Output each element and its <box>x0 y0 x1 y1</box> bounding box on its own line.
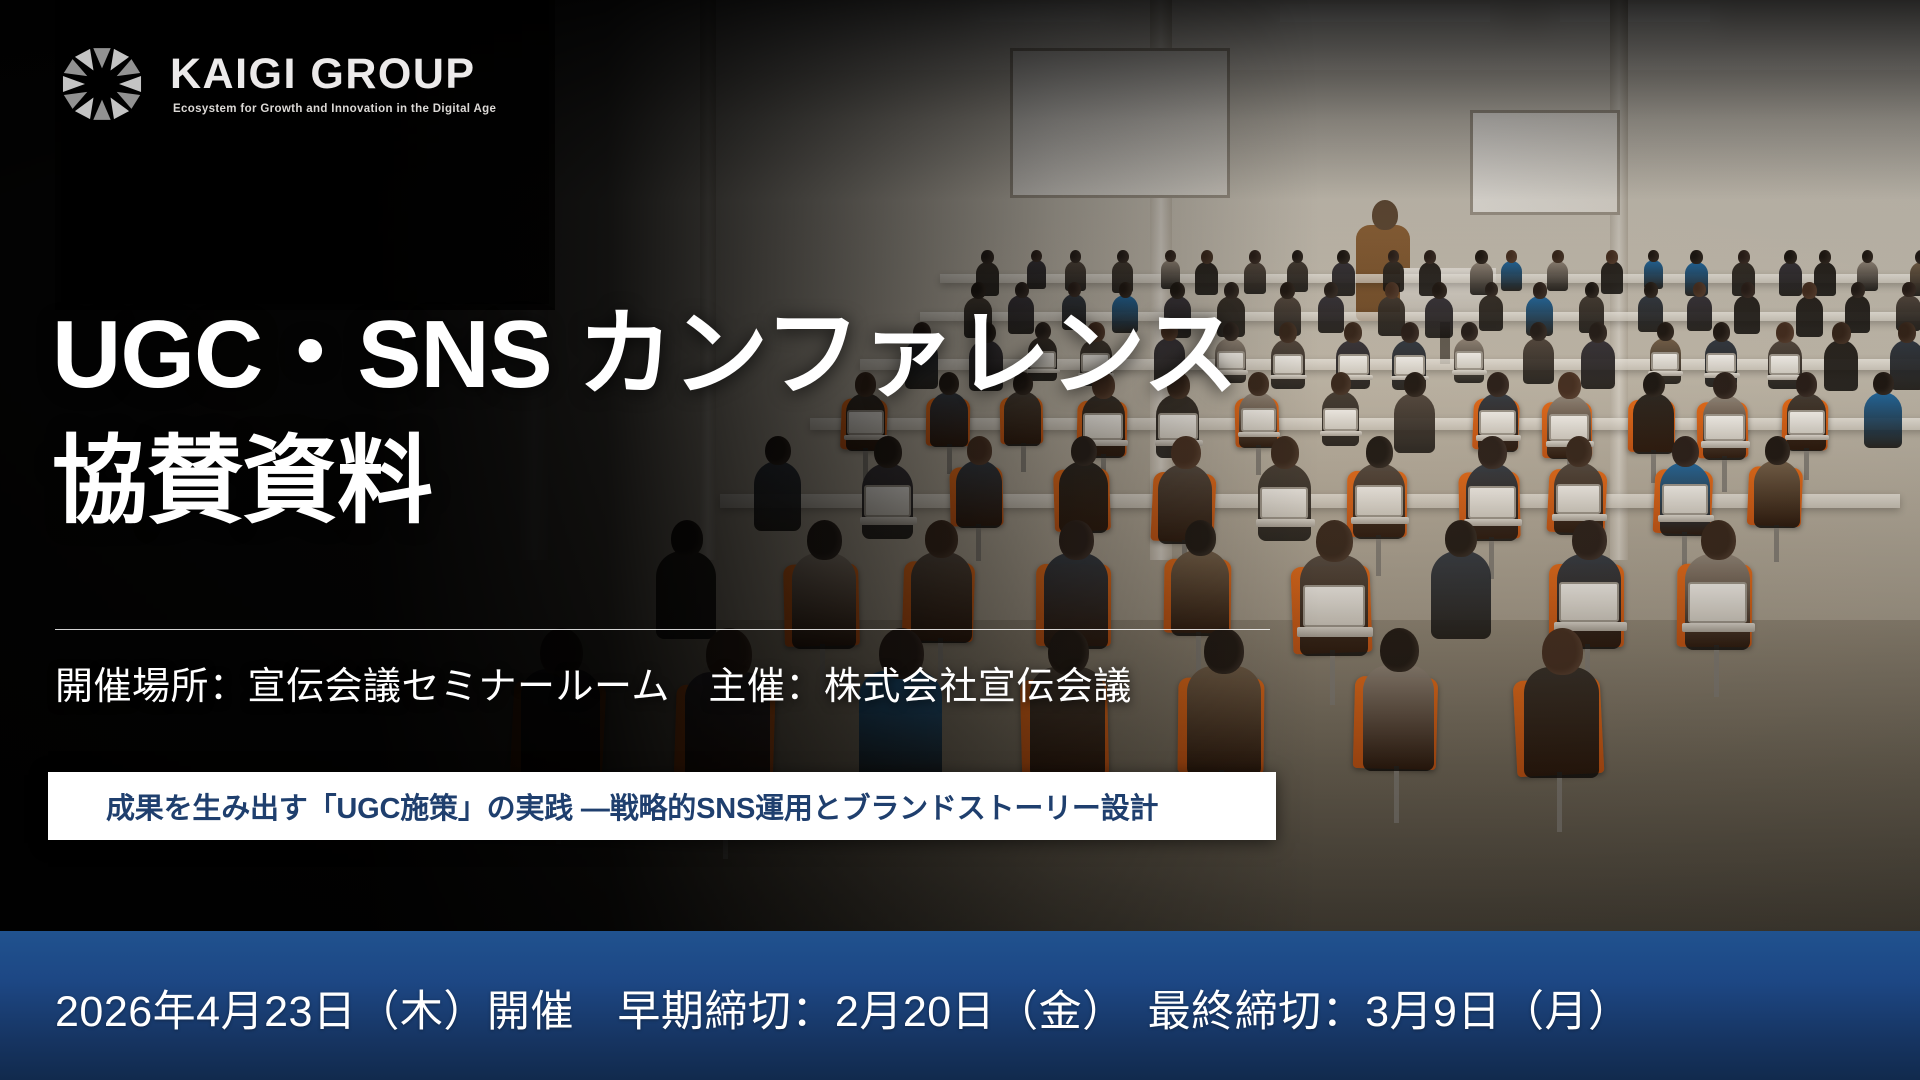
footer-bar: 2026年4月23日（木）開催 早期締切：2月20日（金） 最終締切：3月9日（… <box>0 931 1920 1080</box>
page-title: UGC・SNS カンファレンス 協賛資料 <box>52 292 1238 545</box>
subtitle-banner-text: 成果を生み出す「UGC施策」の実践 ―戦略的SNS運用とブランドストーリー設計 <box>106 785 1158 827</box>
footer-dates-text: 2026年4月23日（木）開催 早期締切：2月20日（金） 最終締切：3月9日（… <box>55 977 1631 1039</box>
brand-tagline: Ecosystem for Growth and Innovation in t… <box>173 103 496 115</box>
sunburst-pinwheel-icon <box>48 36 156 132</box>
presentation-slide: KAIGI GROUP Ecosystem for Growth and Inn… <box>0 0 1920 1080</box>
subtitle-banner: 成果を生み出す「UGC施策」の実践 ―戦略的SNS運用とブランドストーリー設計 <box>48 772 1276 840</box>
brand-logo-text: KAIGI GROUP Ecosystem for Growth and Inn… <box>170 53 496 115</box>
brand-name: KAIGI GROUP <box>170 53 496 96</box>
brand-logo: KAIGI GROUP Ecosystem for Growth and Inn… <box>48 36 496 132</box>
page-title-line-2: 協賛資料 <box>52 419 1238 546</box>
title-divider <box>55 629 1270 630</box>
page-title-line-1: UGC・SNS カンファレンス <box>52 301 1238 408</box>
venue-organizer-line: 開催場所：宣伝会議セミナールーム 主催：株式会社宣伝会議 <box>55 655 1132 710</box>
